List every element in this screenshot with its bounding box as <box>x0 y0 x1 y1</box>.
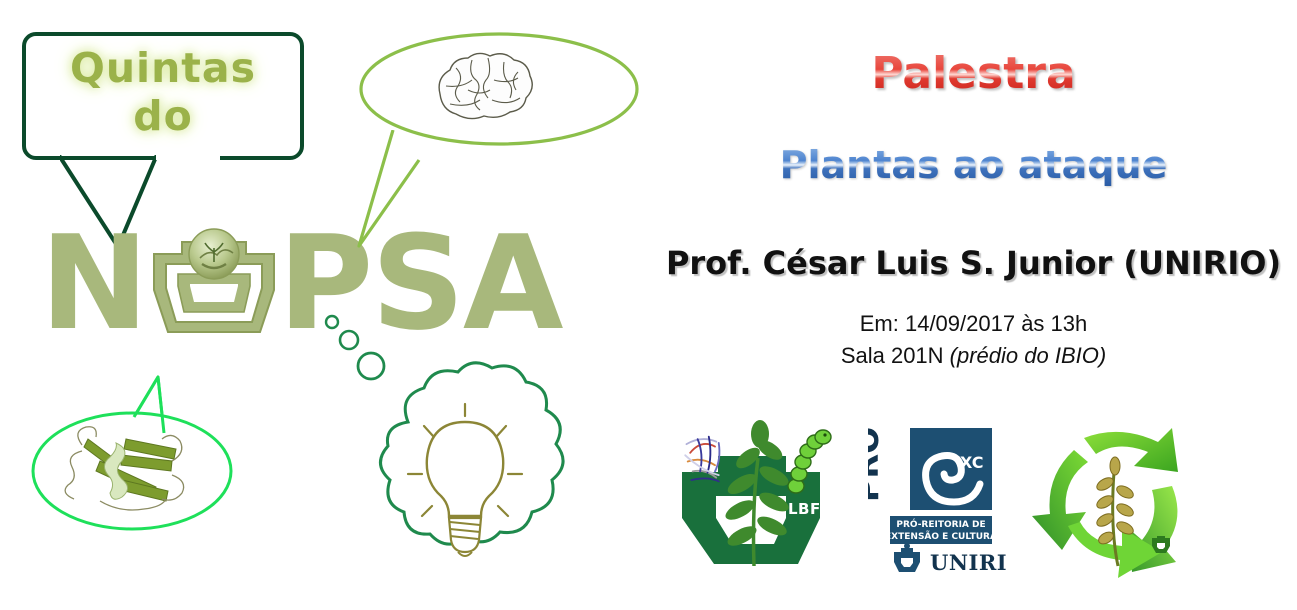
sponsor-logo-strip: LBFPV PRO XC PRÓ-REITORIA DE EXTENSÃO E … <box>650 408 1297 598</box>
lbfpv-label: LBFPV <box>788 500 844 518</box>
proexc-logo: PRO XC PRÓ-REITORIA DE EXTENSÃO E CULTUR… <box>868 418 1008 578</box>
event-topic-title: Plantas ao ataque <box>650 143 1297 187</box>
proexc-line2: EXTENSÃO E CULTURA <box>885 531 997 542</box>
recycling-leaf-logo <box>1022 408 1207 593</box>
proexc-pro-text: PRO <box>868 427 886 502</box>
event-location: Sala 201N (prédio do IBIO) <box>650 340 1297 372</box>
thought-bubble-dots-icon <box>322 312 402 392</box>
event-building: (prédio do IBIO) <box>950 343 1107 368</box>
proexc-xc-text: XC <box>960 453 984 472</box>
lightbulb-icon <box>400 400 530 570</box>
proexc-unirio-text: UNIRIO <box>930 550 1008 575</box>
event-info-panel: Palestra Plantas ao ataque Prof. César L… <box>650 0 1297 610</box>
quintas-label-line1: Quintas <box>26 44 300 92</box>
event-room: Sala 201N <box>841 343 950 368</box>
brain-bubble-tail-icon <box>345 130 455 250</box>
brain-icon <box>430 50 540 130</box>
poster-canvas: Quintas do N PSA <box>0 0 1297 610</box>
event-kicker-title: Palestra <box>650 48 1297 99</box>
protein-structure-icon <box>60 405 210 515</box>
event-speaker-name: Prof. César Luis S. Junior (UNIRIO) <box>650 244 1297 282</box>
quintas-label-line2: do <box>26 92 300 140</box>
event-datetime: Em: 14/09/2017 às 13h <box>650 308 1297 340</box>
nupsa-letter-n: N <box>40 218 147 348</box>
lbfpv-logo: LBFPV <box>670 414 850 589</box>
proexc-line1: PRÓ-REITORIA DE <box>896 518 985 530</box>
nupsa-logo-panel: Quintas do N PSA <box>0 0 650 610</box>
quintas-speech-bubble: Quintas do <box>22 32 304 160</box>
event-details: Em: 14/09/2017 às 13h Sala 201N (prédio … <box>650 308 1297 372</box>
unirio-u-icon <box>148 228 280 346</box>
